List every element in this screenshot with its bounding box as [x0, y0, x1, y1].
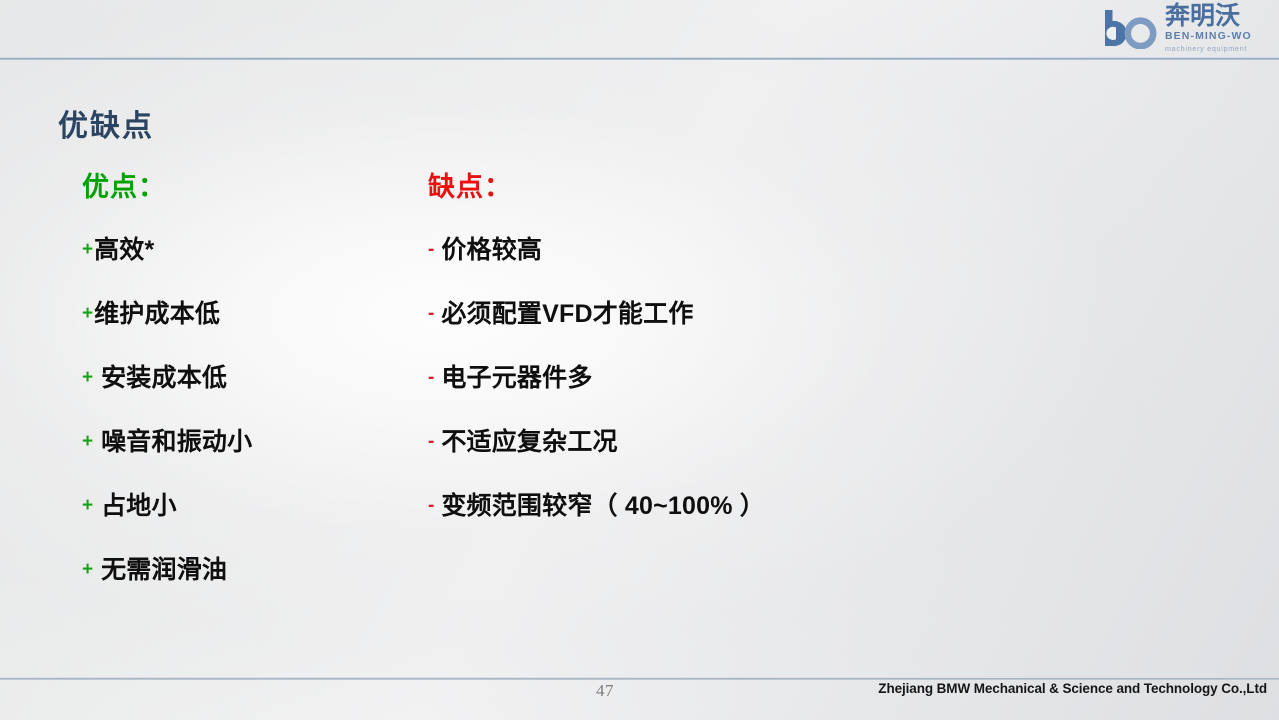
plus-marker-icon: +: [82, 432, 93, 451]
dash-marker-icon: -: [428, 432, 434, 451]
list-item: + 维护成本低: [82, 302, 412, 366]
plus-marker-icon: +: [82, 560, 93, 579]
dash-marker-icon: -: [428, 496, 434, 515]
pros-column: 优点： + 高效* + 维护成本低 + 安装成本低 + 噪音和振动小: [82, 160, 412, 201]
list-item: + 噪音和振动小: [82, 430, 412, 494]
cons-column: 缺点： - 价格较高 - 必须配置VFD才能工作 - 电子元器件多 - 不适应复…: [428, 160, 1028, 201]
list-item: - 电子元器件多: [428, 366, 1028, 430]
list-item: - 不适应复杂工况: [428, 430, 1028, 494]
content-columns: 优点： + 高效* + 维护成本低 + 安装成本低 + 噪音和振动小: [0, 160, 1279, 630]
slide-header: 奔明沃 BEN-MING-WO machinery equipment: [0, 0, 1279, 58]
cons-list: - 价格较高 - 必须配置VFD才能工作 - 电子元器件多 - 不适应复杂工况 …: [428, 238, 1028, 558]
logo-tagline: machinery equipment: [1165, 44, 1247, 53]
slide-canvas: 奔明沃 BEN-MING-WO machinery equipment 优缺点 …: [0, 0, 1279, 720]
list-item: - 变频范围较窄（ 40~100% ）: [428, 494, 1028, 558]
footer-divider: [0, 677, 1279, 680]
plus-marker-icon: +: [82, 240, 93, 259]
plus-marker-icon: +: [82, 304, 93, 323]
header-divider: [0, 57, 1279, 60]
list-item: + 无需润滑油: [82, 558, 412, 622]
pros-list: + 高效* + 维护成本低 + 安装成本低 + 噪音和振动小 + 占地小: [82, 238, 412, 622]
dash-marker-icon: -: [428, 240, 434, 259]
pros-heading: 优点：: [82, 160, 412, 201]
list-item-label: 无需润滑油: [101, 558, 227, 583]
list-item: + 高效*: [82, 238, 412, 302]
cons-heading: 缺点：: [428, 160, 1028, 201]
list-item-label: 电子元器件多: [441, 366, 592, 391]
list-item-label: 安装成本低: [101, 366, 227, 391]
list-item-label: 高效*: [94, 238, 154, 263]
list-item: - 价格较高: [428, 238, 1028, 302]
list-item: + 占地小: [82, 494, 412, 558]
list-item-label: 必须配置VFD才能工作: [441, 302, 693, 327]
list-item-label: 不适应复杂工况: [441, 430, 617, 455]
dash-marker-icon: -: [428, 304, 434, 323]
page-title: 优缺点: [58, 101, 154, 145]
list-item-label: 变频范围较窄（ 40~100% ）: [441, 494, 765, 519]
plus-marker-icon: +: [82, 496, 93, 515]
list-item-label: 占地小: [101, 494, 177, 519]
logo-chinese-name: 奔明沃: [1165, 4, 1240, 30]
logo-wordmark: 奔明沃 BEN-MING-WO machinery equipment: [1165, 3, 1252, 54]
logo-english-name: BEN-MING-WO: [1165, 30, 1252, 43]
list-item-label: 噪音和振动小: [101, 430, 252, 455]
list-item-label: 维护成本低: [94, 302, 220, 327]
dash-marker-icon: -: [428, 368, 434, 387]
list-item-label: 价格较高: [441, 238, 542, 263]
footer-company-name: Zhejiang BMW Mechanical & Science and Te…: [878, 681, 1267, 696]
company-logo: 奔明沃 BEN-MING-WO machinery equipment: [1099, 3, 1271, 53]
bo-monogram-icon: [1099, 7, 1161, 49]
list-item: - 必须配置VFD才能工作: [428, 302, 1028, 366]
list-item: + 安装成本低: [82, 366, 412, 430]
plus-marker-icon: +: [82, 368, 93, 387]
